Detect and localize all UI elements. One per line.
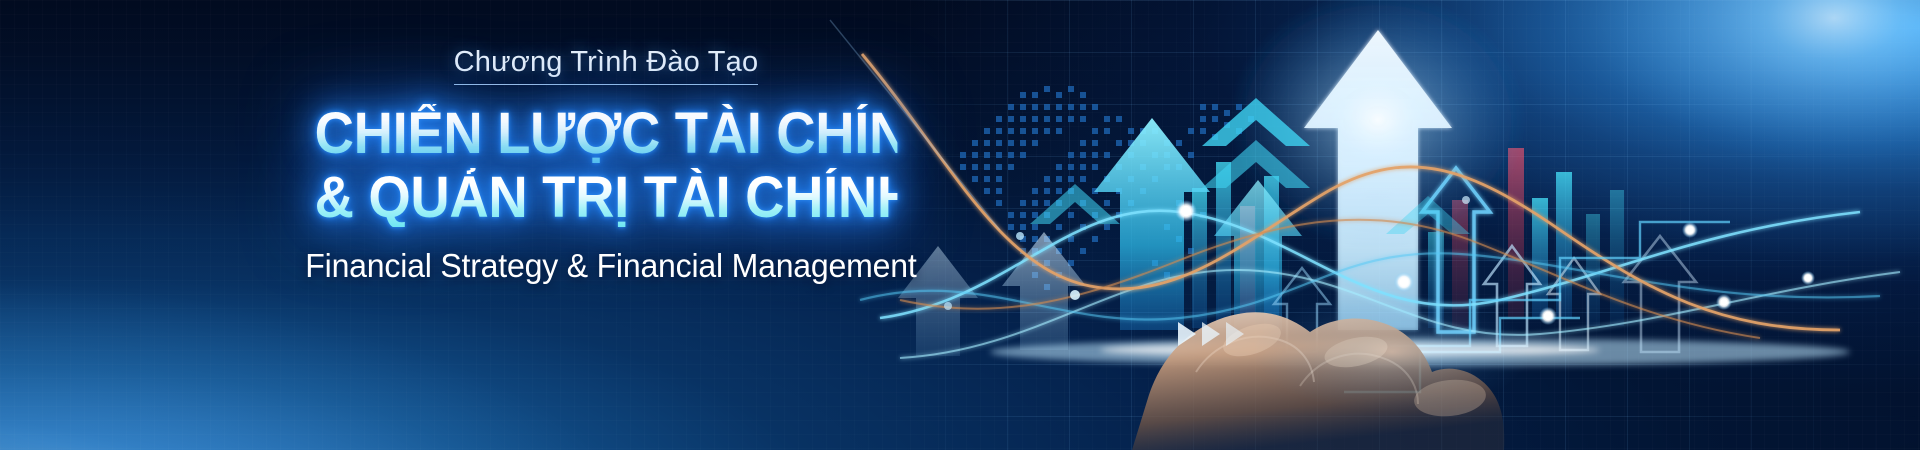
financial-growth-artwork xyxy=(0,0,1920,450)
banner-text-block: Chương Trình Đào Tạo CHIẾN LƯỢC TÀI CHÍN… xyxy=(296,46,916,285)
palm-flare xyxy=(1252,292,1532,412)
corner-flare xyxy=(1594,0,1920,168)
headline-line-2: & QUẢN TRỊ TÀI CHÍNH xyxy=(315,168,898,227)
program-subtitle-english: Financial Strategy & Financial Managemen… xyxy=(305,247,906,285)
program-eyebrow: Chương Trình Đào Tạo xyxy=(454,46,759,85)
training-program-banner: Chương Trình Đào Tạo CHIẾN LƯỢC TÀI CHÍN… xyxy=(0,0,1920,450)
program-headline: CHIẾN LƯỢC TÀI CHÍNH & QUẢN TRỊ TÀI CHÍN… xyxy=(315,104,898,227)
headline-line-1: CHIẾN LƯỢC TÀI CHÍNH xyxy=(315,104,898,163)
